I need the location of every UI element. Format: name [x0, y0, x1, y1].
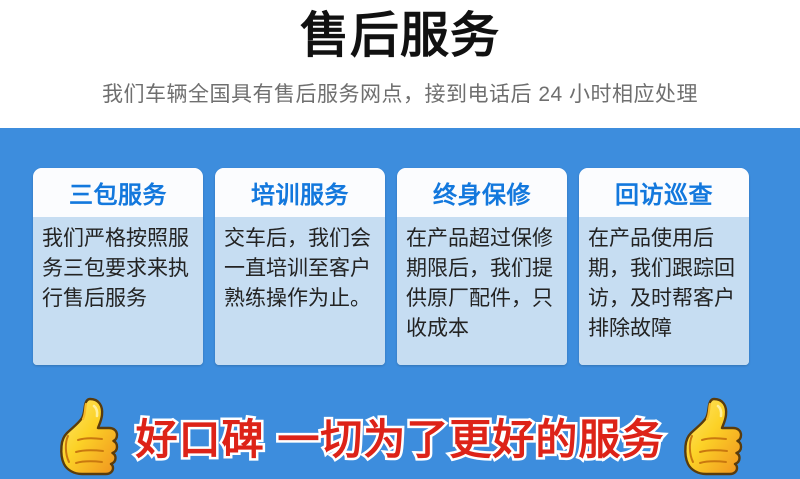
thumbs-up-icon	[680, 396, 744, 476]
service-card-followup-inspection[interactable]: 回访巡查 在产品使用后期，我们跟踪回访，及时帮客户排除故障	[579, 168, 749, 365]
card-body: 交车后，我们会一直培训至客户熟练操作为止。	[215, 217, 385, 365]
card-body: 在产品超过保修期限后，我们提供原厂配件，只收成本	[397, 217, 567, 365]
card-heading-label: 培训服务	[251, 175, 349, 210]
service-card-training[interactable]: 培训服务 交车后，我们会一直培训至客户熟练操作为止。	[215, 168, 385, 365]
blue-content-panel: 三包服务 我们严格按照服务三包要求来执行售后服务 培训服务 交车后，我们会一直培…	[0, 128, 800, 479]
card-body: 我们严格按照服务三包要求来执行售后服务	[33, 217, 203, 365]
card-heading-label: 回访巡查	[615, 175, 713, 210]
header-section: 售后服务 我们车辆全国具有售后服务网点，接到电话后 24 小时相应处理	[0, 0, 800, 128]
service-cards-row: 三包服务 我们严格按照服务三包要求来执行售后服务 培训服务 交车后，我们会一直培…	[33, 168, 767, 365]
slogan-banner: 好口碑 一切为了更好的服务	[0, 393, 800, 479]
card-body-text: 交车后，我们会一直培训至客户熟练操作为止。	[224, 227, 371, 310]
card-header: 回访巡查	[579, 168, 749, 217]
card-header: 三包服务	[33, 168, 203, 217]
card-body-text: 在产品使用后期，我们跟踪回访，及时帮客户排除故障	[588, 227, 735, 340]
card-heading-label: 三包服务	[69, 175, 167, 210]
card-body-text: 我们严格按照服务三包要求来执行售后服务	[42, 227, 189, 310]
service-card-three-guarantees[interactable]: 三包服务 我们严格按照服务三包要求来执行售后服务	[33, 168, 203, 365]
card-body: 在产品使用后期，我们跟踪回访，及时帮客户排除故障	[579, 217, 749, 365]
after-sales-service-banner: 售后服务 我们车辆全国具有售后服务网点，接到电话后 24 小时相应处理 三包服务…	[0, 0, 800, 479]
card-heading-label: 终身保修	[433, 175, 531, 210]
page-subtitle: 我们车辆全国具有售后服务网点，接到电话后 24 小时相应处理	[0, 80, 800, 110]
card-header: 终身保修	[397, 168, 567, 217]
page-title: 售后服务	[0, 5, 800, 67]
card-body-text: 在产品超过保修期限后，我们提供原厂配件，只收成本	[406, 227, 553, 340]
slogan-text: 好口碑 一切为了更好的服务	[136, 406, 665, 467]
thumbs-up-icon	[56, 396, 120, 476]
card-header: 培训服务	[215, 168, 385, 217]
service-card-lifetime-warranty[interactable]: 终身保修 在产品超过保修期限后，我们提供原厂配件，只收成本	[397, 168, 567, 365]
